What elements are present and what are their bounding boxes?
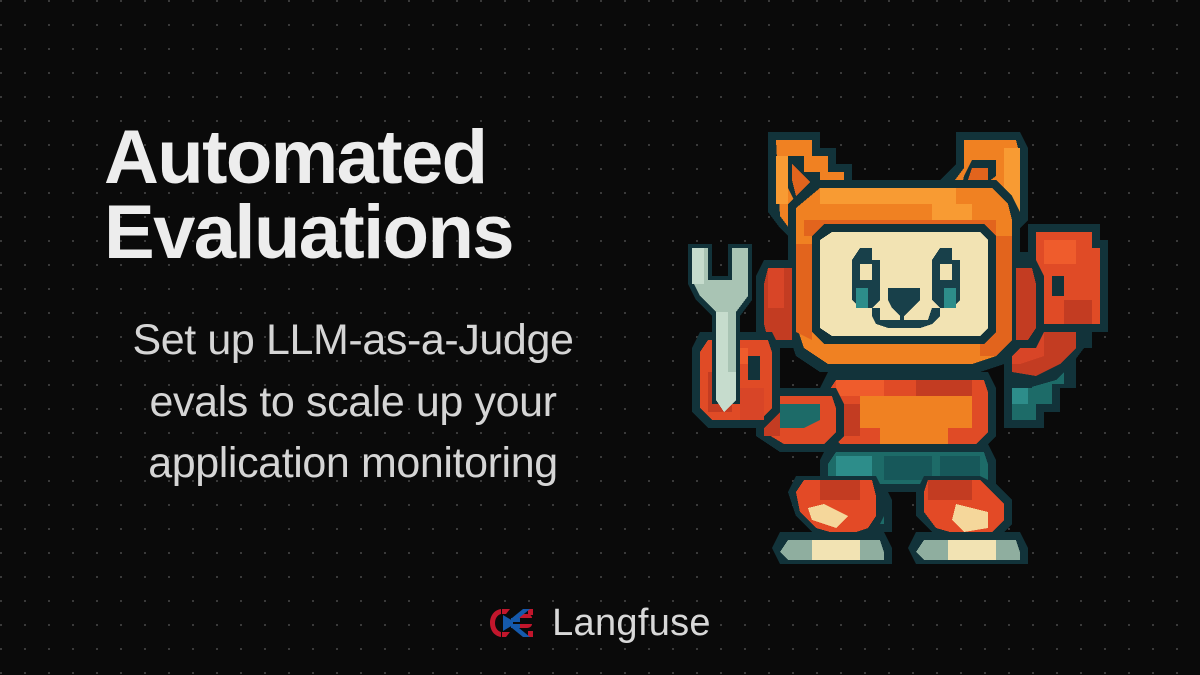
mascot-torso <box>820 372 996 492</box>
page-title: Automated Evaluations <box>104 120 658 270</box>
mascot-illustration <box>660 100 1140 580</box>
brand-lockup: Langfuse <box>0 604 1200 642</box>
brand-name: Langfuse <box>552 604 711 642</box>
page-subtitle: Set up LLM-as-a-Judge evals to scale up … <box>48 310 658 493</box>
promo-card: Automated Evaluations Set up LLM-as-a-Ju… <box>0 0 1200 675</box>
mascot-face <box>812 224 996 344</box>
langfuse-logo-icon <box>489 606 535 640</box>
hero-text-column: Automated Evaluations Set up LLM-as-a-Ju… <box>48 120 658 494</box>
